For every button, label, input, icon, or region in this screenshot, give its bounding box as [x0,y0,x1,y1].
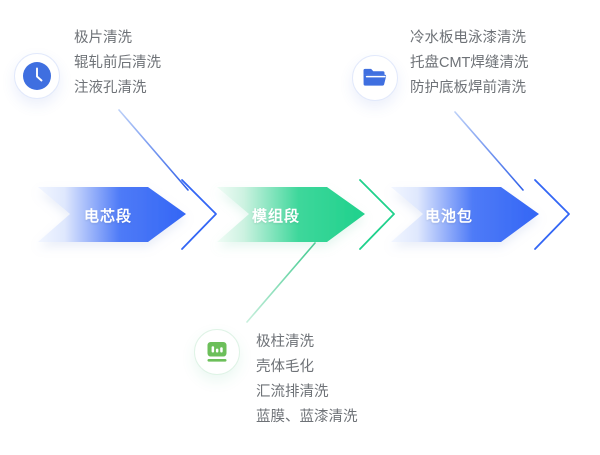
callout-cell-stage: 极片清洗 辊轧前后清洗 注液孔清洗 [74,26,161,101]
stage-label-pack: 电池包 [425,205,473,226]
callout-item: 辊轧前后清洗 [74,51,161,76]
stage-label-module: 模组段 [252,205,300,226]
connector-line-module [247,243,315,322]
callout-item: 冷水板电泳漆清洗 [410,26,528,51]
bar-chart-icon-badge [194,329,240,375]
callout-item: 注液孔清洗 [74,76,161,101]
callout-module-stage: 极柱清洗 壳体毛化 汇流排清洗 蓝膜、蓝漆清洗 [256,330,358,430]
connector-line-pack [455,112,523,190]
stage-label-cell: 电芯段 [84,205,132,226]
callout-item: 壳体毛化 [256,355,358,380]
diagram-canvas: 电芯段 模组段 电池包 极片清洗 辊轧前后清洗 注液孔清洗 冷水板电泳漆清洗 托… [0,0,600,455]
stage-divider-chevron-3 [535,180,569,249]
stage-divider-chevron-2 [360,180,394,249]
callout-item: 极柱清洗 [256,330,358,355]
folder-icon-badge [352,55,398,101]
callout-item: 汇流排清洗 [256,380,358,405]
folder-icon [361,64,389,92]
callout-cell-items: 极片清洗 辊轧前后清洗 注液孔清洗 [74,26,161,101]
bar-chart-icon [203,338,231,366]
callout-item: 极片清洗 [74,26,161,51]
callout-item: 防护底板焊前清洗 [410,76,528,101]
callout-pack-stage: 冷水板电泳漆清洗 托盘CMT焊缝清洗 防护底板焊前清洗 [410,26,528,101]
callout-pack-items: 冷水板电泳漆清洗 托盘CMT焊缝清洗 防护底板焊前清洗 [410,26,528,101]
callout-module-items: 极柱清洗 壳体毛化 汇流排清洗 蓝膜、蓝漆清洗 [256,330,358,430]
connector-line-cell [119,110,188,190]
clock-icon-badge [14,53,60,99]
callout-item: 托盘CMT焊缝清洗 [410,51,528,76]
stage-divider-chevron-1 [182,180,216,249]
callout-item: 蓝膜、蓝漆清洗 [256,405,358,430]
clock-icon [21,60,53,92]
